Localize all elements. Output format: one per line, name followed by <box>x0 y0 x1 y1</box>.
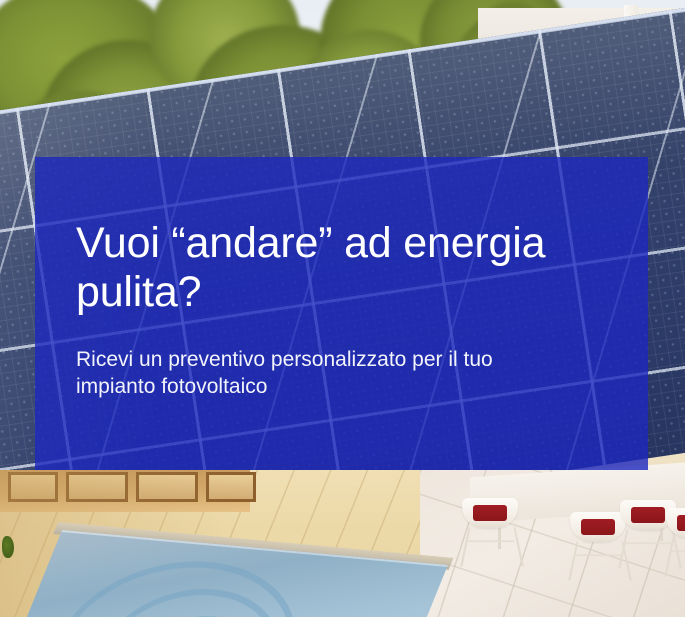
chair-cushion <box>631 507 665 523</box>
hero-subtitle: Ricevi un preventivo personalizzato per … <box>76 346 588 400</box>
hero-banner: Vuoi “andare” ad energia pulita? Ricevi … <box>0 0 685 617</box>
chair-cushion <box>473 505 507 521</box>
chair-cushion <box>677 515 685 531</box>
page-title: Vuoi “andare” ad energia pulita? <box>76 219 606 317</box>
plant-sprig <box>2 536 14 558</box>
hero-text-overlay: Vuoi “andare” ad energia pulita? Ricevi … <box>35 157 648 470</box>
chair-legs <box>460 528 524 567</box>
chair-cushion <box>581 519 615 535</box>
